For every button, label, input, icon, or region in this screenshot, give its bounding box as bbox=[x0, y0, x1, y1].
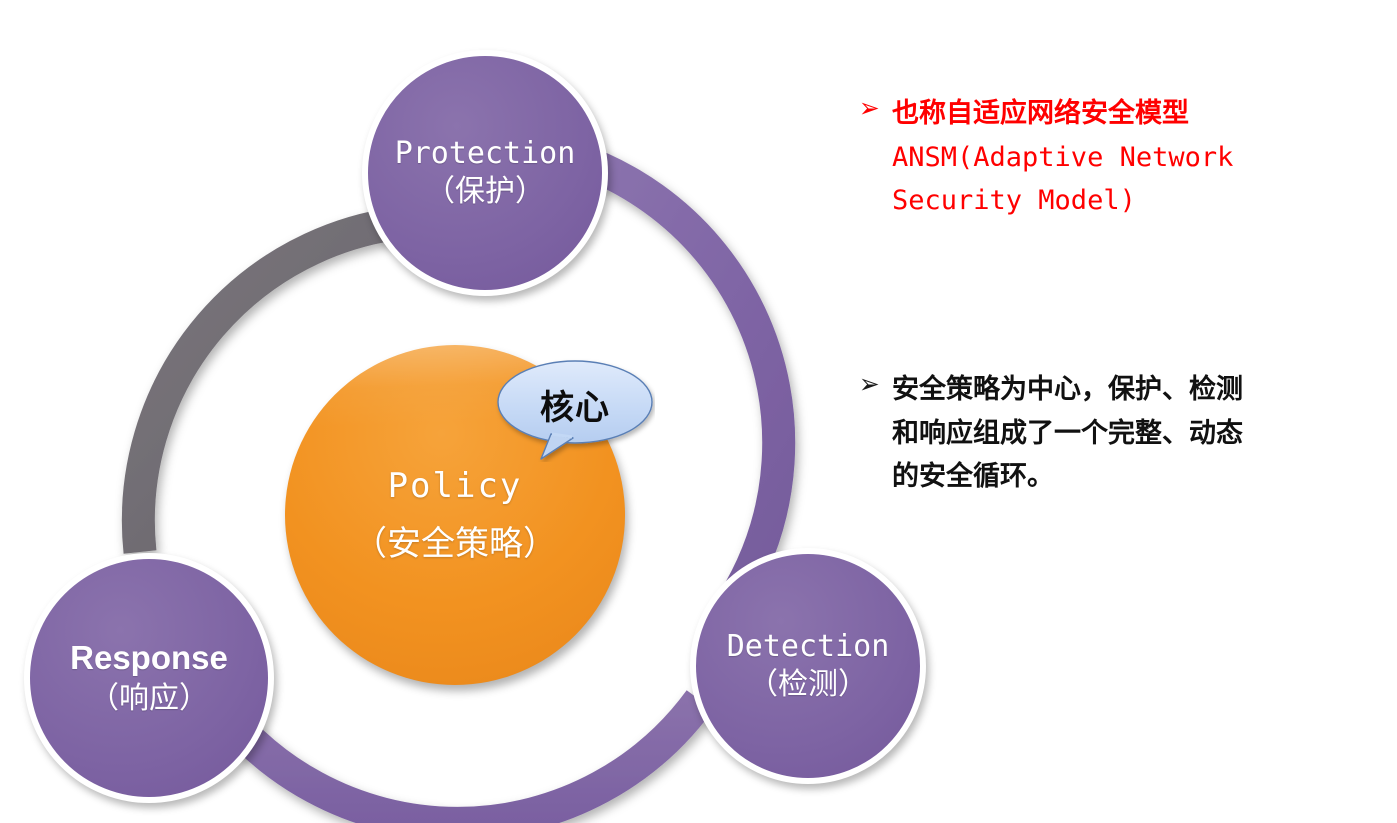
slide-canvas: Protection （保护） Detection （检测） Response … bbox=[0, 0, 1397, 823]
bullet-item-2-body: 安全策略为中心，保护、检测 和响应组成了一个完整、动态 的安全循环。 bbox=[892, 368, 1388, 499]
bullet-arrow-icon: ➢ bbox=[858, 368, 892, 398]
callout-core-text: 核心 bbox=[495, 380, 655, 429]
bullet-2-line-1: 安全策略为中心，保护、检测 bbox=[892, 368, 1388, 412]
bullet-1-line-3: Security Model) bbox=[892, 179, 1378, 223]
node-protection[interactable]: Protection （保护） bbox=[362, 50, 608, 296]
arc-detection-to-response bbox=[215, 700, 700, 823]
node-response[interactable]: Response （响应） bbox=[24, 553, 274, 803]
bullet-2-line-3: 的安全循环。 bbox=[892, 455, 1388, 499]
callout-core: 核心 bbox=[495, 358, 655, 462]
bullet-item-1: ➢ 也称自适应网络安全模型 ANSM(Adaptive Network Secu… bbox=[858, 92, 1378, 223]
node-response-label-cn: （响应） bbox=[89, 681, 209, 718]
node-policy-label-en: Policy bbox=[388, 466, 523, 506]
node-protection-label-en: Protection bbox=[395, 136, 576, 171]
node-policy-label-cn: （安全策略） bbox=[353, 516, 557, 565]
notes-panel: ➢ 也称自适应网络安全模型 ANSM(Adaptive Network Secu… bbox=[855, 0, 1397, 823]
node-protection-label-cn: （保护） bbox=[425, 174, 545, 211]
node-detection-label-cn: （检测） bbox=[748, 667, 868, 704]
p2dr-cycle-diagram: Protection （保护） Detection （检测） Response … bbox=[0, 0, 860, 823]
bullet-arrow-icon: ➢ bbox=[858, 92, 892, 122]
bullet-2-line-2: 和响应组成了一个完整、动态 bbox=[892, 412, 1388, 456]
bullet-1-line-1: 也称自适应网络安全模型 bbox=[892, 92, 1378, 136]
bullet-item-2: ➢ 安全策略为中心，保护、检测 和响应组成了一个完整、动态 的安全循环。 bbox=[858, 368, 1388, 499]
bullet-item-1-body: 也称自适应网络安全模型 ANSM(Adaptive Network Securi… bbox=[892, 92, 1378, 223]
node-response-label-en: Response bbox=[70, 639, 228, 678]
bullet-1-line-2: ANSM(Adaptive Network bbox=[892, 136, 1378, 180]
